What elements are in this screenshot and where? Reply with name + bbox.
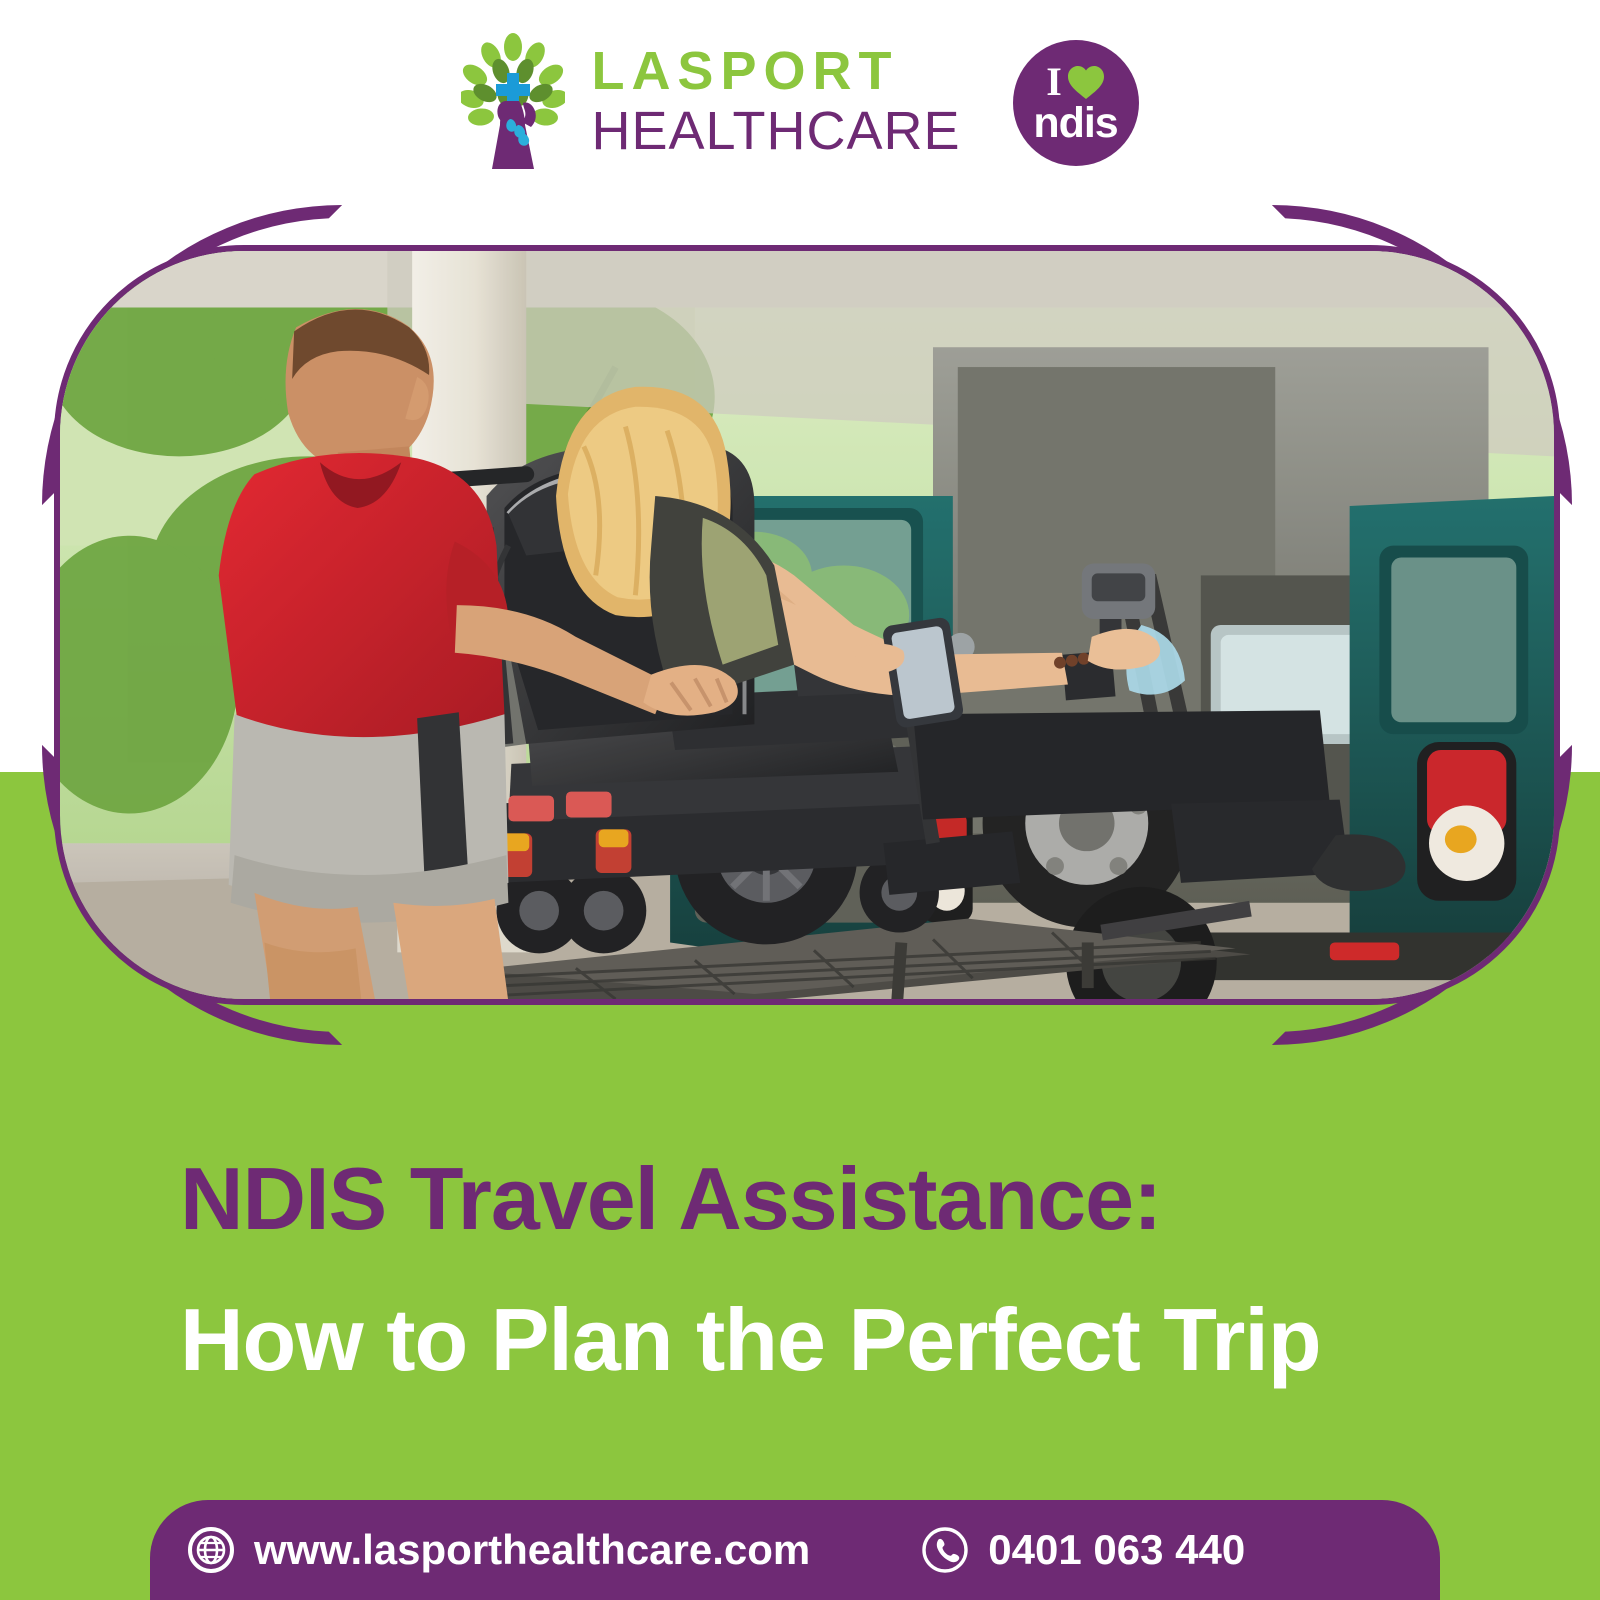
brand-lockup: LASPORT HEALTHCARE (461, 33, 960, 173)
header: LASPORT HEALTHCARE I ndis (0, 0, 1600, 205)
headline: NDIS Travel Assistance: How to Plan the … (180, 1150, 1460, 1389)
ndis-badge-top-row: I (1013, 62, 1139, 102)
website-contact[interactable]: www.lasporthealthcare.com (188, 1527, 810, 1573)
wheelchair-van-ramp-photo (60, 251, 1554, 999)
brand-name-top: LASPORT (591, 44, 960, 99)
tree-hands-medical-cross-icon (461, 33, 565, 173)
ndis-i-letter: I (1046, 62, 1062, 102)
heart-icon (1067, 64, 1105, 100)
ndis-wordmark: ndis (1013, 102, 1139, 145)
phone-contact[interactable]: 0401 063 440 (922, 1527, 1245, 1573)
headline-line-2: How to Plan the Perfect Trip (180, 1291, 1460, 1390)
wordmark: LASPORT HEALTHCARE (591, 44, 960, 160)
phone-text: 0401 063 440 (988, 1529, 1245, 1571)
brand-name-bottom: HEALTHCARE (591, 103, 960, 160)
ndis-heart-badge-icon: I ndis (1013, 40, 1139, 166)
headline-line-1: NDIS Travel Assistance: (180, 1150, 1460, 1249)
photo-frame (54, 245, 1560, 1005)
hero-photo-block (42, 205, 1572, 1045)
phone-icon (922, 1527, 968, 1573)
website-text: www.lasporthealthcare.com (254, 1529, 810, 1571)
globe-icon (188, 1527, 234, 1573)
contact-bar: www.lasporthealthcare.com 0401 063 440 (150, 1500, 1440, 1600)
